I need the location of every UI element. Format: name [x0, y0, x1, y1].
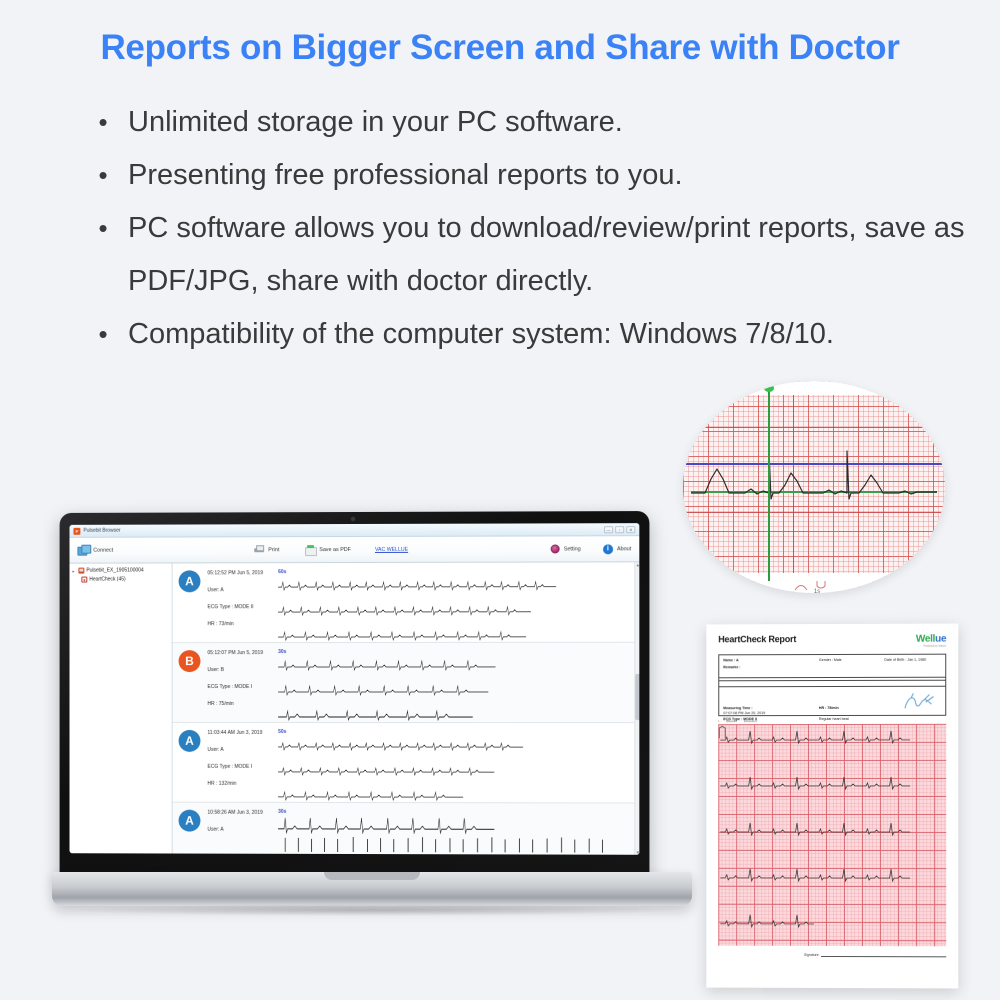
info-icon: i	[603, 544, 613, 554]
heart-signature-icon	[903, 692, 937, 712]
bullet-text: Presenting free professional reports to …	[128, 149, 978, 202]
ecg-strip	[278, 786, 637, 803]
table-row[interactable]: A 10:58:26 AM Jun 3, 2019 User: A 30s	[173, 803, 640, 855]
ecg-strip	[278, 601, 637, 618]
report-dob: Date of Birth : Jan 1, 1980	[884, 658, 941, 662]
record-hr: HR : 75/min	[207, 701, 278, 707]
close-button[interactable]: ✕	[626, 526, 635, 533]
report-measuring-time-label: Measuring Time :	[723, 706, 819, 710]
record-meta: 11:03:44 AM Jun 3, 2019 User: A ECG Type…	[200, 728, 278, 787]
record-timestamp: 05:12:07 PM Jun 5, 2019	[207, 650, 278, 656]
record-ecg-type: ECG Type : MODE I	[207, 684, 278, 690]
ecg-waveform-zoom	[683, 381, 945, 593]
report-divider	[719, 686, 945, 688]
pdf-icon	[305, 545, 315, 554]
bullet-marker-icon: •	[78, 149, 128, 202]
list-item: • PC software allows you to download/rev…	[78, 202, 978, 308]
record-waveforms[interactable]: 30s	[278, 648, 637, 722]
device-icon	[78, 568, 84, 574]
tree-device-label: Pulsebit_EX_1905100004	[86, 567, 143, 573]
save-pdf-label: Save as PDF	[319, 547, 351, 553]
setting-label: Setting	[564, 546, 581, 552]
record-user: User: A	[207, 747, 278, 753]
about-button[interactable]: i About	[603, 544, 631, 554]
ecg-strip	[278, 761, 637, 777]
record-duration: 30s	[278, 649, 637, 655]
brand-name: Wellue	[916, 634, 946, 645]
window-controls: — ▫ ✕	[604, 526, 635, 533]
signature-line[interactable]	[821, 952, 946, 957]
record-timestamp: 10:58:26 AM Jun 3, 2019	[207, 810, 278, 816]
report-header: HeartCheck Report Wellue Powered by Viat…	[718, 634, 946, 649]
ecg-strip	[278, 575, 637, 592]
ecg-strip	[278, 626, 637, 642]
report-ecg-type: ECG Type : MODE II	[723, 717, 819, 721]
table-row[interactable]: B 05:12:07 PM Jun 5, 2019 User: B ECG Ty…	[173, 643, 640, 723]
about-label: About	[617, 546, 631, 552]
record-meta: 05:12:52 PM Jun 5, 2019 User: A ECG Type…	[200, 568, 278, 627]
record-user: User: A	[207, 587, 278, 593]
webcam-icon	[350, 516, 356, 522]
report-hr: HR : 75/min	[819, 706, 884, 710]
report-row-identity: Name : A Gender : Male Date of Birth : J…	[719, 655, 945, 663]
avatar: A	[179, 730, 201, 752]
report-divider	[719, 677, 945, 679]
record-waveforms[interactable]: 30s	[278, 808, 637, 853]
minimize-button[interactable]: —	[604, 526, 613, 533]
ecg-cursor-handle-icon[interactable]	[764, 382, 774, 392]
report-info-box: Name : A Gender : Male Date of Birth : J…	[718, 654, 946, 717]
list-item: • Presenting free professional reports t…	[78, 149, 978, 202]
record-meta: 05:12:07 PM Jun 5, 2019 User: B ECG Type…	[200, 648, 278, 707]
ecg-zoom-circle: 1s	[683, 381, 945, 593]
record-user: User: B	[207, 667, 278, 673]
report-ecg-grid	[718, 724, 946, 946]
chevron-right-icon[interactable]: ▸	[72, 568, 76, 573]
tree-item-device[interactable]: ▸ Pulsebit_EX_1905100004	[72, 567, 168, 573]
maximize-button[interactable]: ▫	[615, 526, 624, 533]
record-user: User: A	[207, 827, 278, 833]
record-hr: HR : 132/min	[207, 781, 278, 787]
bullet-text: PC software allows you to download/revie…	[128, 202, 978, 308]
brand-logo: Wellue Powered by Viatom	[916, 634, 946, 648]
report-remarks: Remarks :	[723, 665, 819, 669]
app-workspace: ▸ Pulsebit_EX_1905100004 ♥ HeartCheck (4…	[69, 562, 639, 854]
app-toolbar: Connect Print Save as PDF VAC WELLUE	[69, 536, 639, 563]
tree-folder-label: HeartCheck (45)	[89, 576, 125, 582]
scrollbar-thumb[interactable]	[635, 673, 639, 720]
ecg-cursor-line[interactable]	[768, 385, 770, 581]
ecg-strip	[278, 681, 637, 697]
gear-icon	[551, 544, 560, 553]
signature-label: Signature:	[804, 953, 819, 957]
page-title: Reports on Bigger Screen and Share with …	[0, 28, 1000, 68]
vac-wellue-label: VAC WELLUE	[375, 546, 408, 552]
record-ecg-type: ECG Type : MODE I	[207, 764, 278, 770]
bullet-text: Unlimited storage in your PC software.	[128, 96, 978, 149]
table-row[interactable]: A 11:03:44 AM Jun 3, 2019 User: A ECG Ty…	[173, 723, 640, 804]
circle-top-mask	[683, 381, 945, 395]
heartcheck-report-page: HeartCheck Report Wellue Powered by Viat…	[706, 624, 958, 989]
record-duration: 50s	[278, 729, 637, 735]
report-ecg-waveforms	[718, 724, 946, 946]
laptop-base	[52, 872, 692, 906]
record-timestamp: 05:12:52 PM Jun 5, 2019	[207, 570, 278, 576]
brand-part-1: Well	[916, 634, 935, 645]
tree-item-heartcheck[interactable]: ♥ HeartCheck (45)	[72, 576, 168, 582]
bullet-marker-icon: •	[78, 202, 128, 255]
record-waveforms[interactable]: 60s	[278, 567, 637, 642]
laptop-shadow	[62, 904, 682, 916]
laptop-screen: P Pulsebit Browser — ▫ ✕ Connect	[69, 523, 639, 855]
table-row[interactable]: A 05:12:52 PM Jun 5, 2019 User: A ECG Ty…	[173, 562, 640, 643]
report-measuring-time-value: 07:07:08 PM Jun 20, 2019	[723, 711, 819, 715]
ecg-strip	[278, 706, 637, 722]
printer-icon	[254, 545, 264, 554]
laptop-notch	[324, 872, 420, 880]
ecg-scale-label: 1s	[787, 589, 847, 593]
ecg-strip	[278, 736, 637, 752]
list-item: • Compatibility of the computer system: …	[78, 308, 978, 361]
connect-button[interactable]: Connect	[77, 545, 113, 556]
save-as-pdf-button[interactable]: Save as PDF	[305, 545, 351, 554]
report-analysis: Regular heart beat	[819, 717, 884, 721]
report-title: HeartCheck Report	[718, 634, 796, 644]
avatar: B	[179, 650, 201, 672]
laptop-lid: P Pulsebit Browser — ▫ ✕ Connect	[60, 511, 650, 885]
feature-bullet-list: • Unlimited storage in your PC software.…	[78, 96, 978, 361]
list-item: • Unlimited storage in your PC software.	[78, 96, 978, 149]
ecg-strip	[278, 836, 637, 853]
connect-icon	[77, 545, 89, 556]
report-row-type: ECG Type : MODE II Regular heart beat	[719, 715, 945, 721]
ecg-strip	[278, 656, 637, 672]
laptop-mockup: P Pulsebit Browser — ▫ ✕ Connect	[52, 512, 692, 927]
calibration-pulse-icon	[718, 724, 726, 740]
heart-icon: ♥	[83, 577, 85, 582]
heart-folder-icon: ♥	[81, 577, 87, 583]
record-ecg-type: ECG Type : MODE II	[207, 604, 278, 610]
print-button[interactable]: Print	[254, 545, 279, 554]
record-meta: 10:58:26 AM Jun 3, 2019 User: A	[200, 808, 278, 833]
avatar: A	[179, 810, 201, 832]
connect-label: Connect	[93, 547, 113, 553]
bullet-marker-icon: •	[78, 96, 128, 149]
vac-wellue-link[interactable]: VAC WELLUE	[375, 546, 408, 552]
device-tree-panel: ▸ Pulsebit_EX_1905100004 ♥ HeartCheck (4…	[69, 563, 172, 853]
scroll-down-icon[interactable]: ▼	[635, 850, 639, 855]
brand-tagline: Powered by Viatom	[916, 645, 946, 648]
record-timestamp: 11:03:44 AM Jun 3, 2019	[207, 730, 278, 736]
record-list[interactable]: A 05:12:52 PM Jun 5, 2019 User: A ECG Ty…	[173, 562, 640, 854]
report-name: Name : A	[723, 658, 819, 662]
record-duration: 30s	[278, 809, 637, 816]
record-waveforms[interactable]: 50s	[278, 728, 637, 803]
report-divider	[719, 680, 945, 682]
report-row-remarks: Remarks :	[719, 662, 945, 670]
setting-button[interactable]: Setting	[551, 544, 581, 553]
avatar: A	[179, 570, 201, 592]
pulsebit-browser-app: P Pulsebit Browser — ▫ ✕ Connect	[69, 523, 639, 855]
ecg-zoom-circle-body: 1s	[683, 381, 945, 593]
record-scrollbar[interactable]: ▲ ▼	[634, 562, 639, 854]
record-duration: 60s	[278, 568, 637, 575]
bullet-marker-icon: •	[78, 308, 128, 361]
print-label: Print	[268, 547, 279, 553]
record-hr: HR : 73/min	[207, 621, 278, 627]
brand-part-2: ue	[935, 634, 946, 645]
report-gender: Gender : Male	[819, 658, 884, 662]
report-signature-area: Signature:	[718, 952, 946, 958]
ecg-strip	[278, 816, 637, 835]
app-logo-icon: P	[73, 527, 80, 534]
bullet-text: Compatibility of the computer system: Wi…	[128, 308, 978, 361]
app-title: Pulsebit Browser	[83, 528, 120, 534]
scroll-up-icon[interactable]: ▲	[635, 562, 639, 567]
